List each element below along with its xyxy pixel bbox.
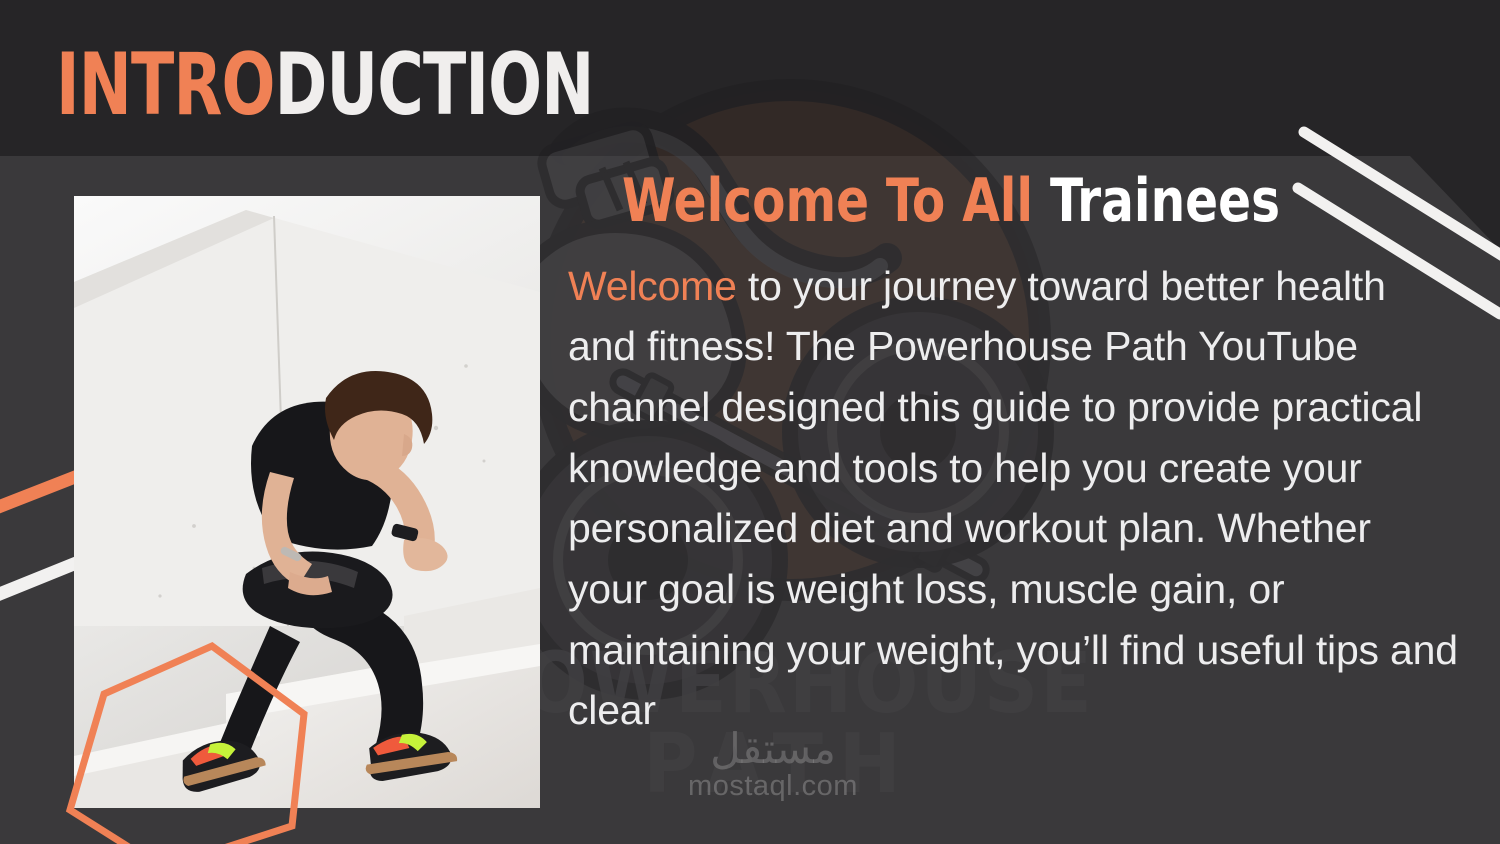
body-rest-text: to your journey toward better health and… (568, 263, 1458, 734)
section-heading-accent: Welcome To All (622, 166, 1033, 236)
content-column: Welcome To All Trainees Welcome to your … (568, 170, 1468, 741)
hero-photo (74, 196, 540, 808)
section-heading: Welcome To All Trainees (622, 170, 1383, 234)
section-heading-plain: Trainees (1033, 166, 1280, 236)
body-paragraph: Welcome to your journey toward better he… (568, 256, 1458, 741)
slide-canvas: POWERHOUSE PATH (0, 0, 1500, 844)
body-lead-word: Welcome (568, 263, 737, 309)
page-title-accent: INTRO (56, 35, 275, 135)
page-title: INTRODUCTION (56, 42, 594, 128)
page-title-plain: DUCTION (275, 35, 594, 135)
